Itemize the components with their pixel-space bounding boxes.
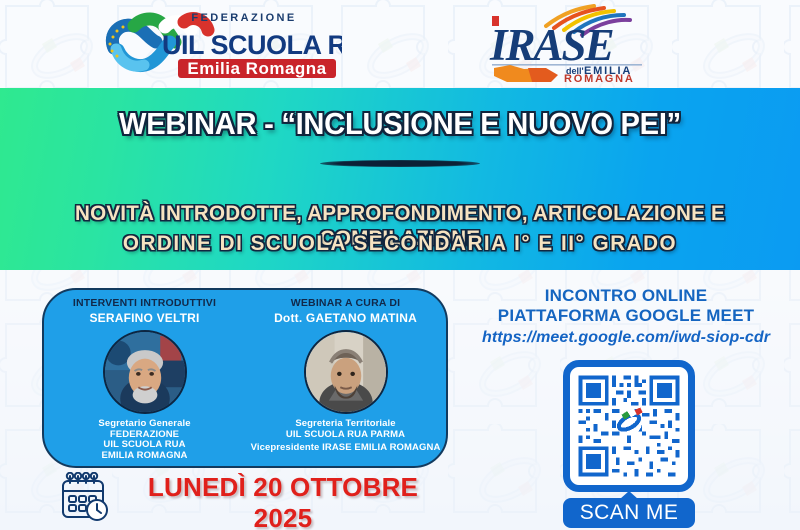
speaker-2-roles: Segreteria Territoriale UIL SCUOLA RUA P…: [245, 419, 446, 454]
page-title: WEBINAR - “INCLUSIONE E NUOVO PEI”: [24, 106, 776, 142]
uil-logo-main-text: UIL SCUOLA RUA: [162, 30, 342, 60]
speaker-1-role-2: UIL SCUOLA RUA: [103, 439, 185, 450]
speaker-2-role-0: Segreteria Territoriale: [295, 418, 395, 429]
speaker-1-role-1: FEDERAZIONE: [110, 429, 179, 440]
speaker-2-name: Dott. GAETANO MATINA: [245, 311, 446, 325]
speaker-photo-serafino-veltri: [103, 330, 187, 414]
speaker-1-kicker: INTERVENTI INTRODUTTIVI: [44, 297, 245, 309]
title-underline-flourish: [320, 160, 480, 167]
uil-logo-region-text: Emilia Romagna: [178, 59, 336, 78]
speaker-card-2: WEBINAR A CURA DI Dott. GAETANO MATINA: [245, 290, 446, 466]
speakers-panel: INTERVENTI INTRODUTTIVI SERAFINO VELTRI: [42, 288, 448, 468]
calendar-clock-icon: [58, 472, 112, 524]
speaker-photo-gaetano-matina: [304, 330, 388, 414]
speaker-2-kicker: WEBINAR A CURA DI: [245, 297, 446, 309]
poster-header: FEDERAZIONE UIL SCUOLA RUA Emilia Romagn…: [0, 0, 800, 88]
qr-code-block[interactable]: SCAN ME: [563, 360, 695, 492]
qr-code-image[interactable]: [563, 360, 695, 492]
speaker-1-role-3: EMILIA ROMAGNA: [101, 450, 187, 461]
online-line-1: INCONTRO ONLINE: [452, 286, 800, 306]
event-date: LUNEDÌ 20 OTTOBRE 2025: [118, 472, 448, 530]
speaker-1-role-0: Segretario Generale: [98, 418, 190, 429]
irase-logo-romagna-text: ROMAGNA: [564, 73, 635, 82]
online-line-2: PIATTAFORMA GOOGLE MEET: [452, 306, 800, 326]
online-info-block: INCONTRO ONLINE PIATTAFORMA GOOGLE MEET …: [452, 286, 800, 347]
meet-link[interactable]: https://meet.google.com/iwd-siop-cdr: [452, 329, 800, 347]
uil-scuola-rua-logo: FEDERAZIONE UIL SCUOLA RUA Emilia Romagn…: [92, 4, 342, 82]
speaker-2-role-2: Vicepresidente IRASE EMILIA ROMAGNA: [251, 442, 441, 453]
speaker-2-role-1: UIL SCUOLA RUA PARMA: [286, 429, 405, 440]
svg-text:Emilia Romagna: Emilia Romagna: [187, 59, 326, 78]
irase-logo-main-text: IRASE: [489, 20, 613, 70]
scan-me-label[interactable]: SCAN ME: [563, 498, 695, 528]
irase-emilia-romagna-logo: IRASE dell' EMILIA ROMAGNA: [468, 4, 668, 82]
uil-logo-federazione-text: FEDERAZIONE: [191, 12, 296, 24]
webinar-poster: FEDERAZIONE UIL SCUOLA RUA Emilia Romagn…: [0, 0, 800, 530]
subtitle-line-2: ORDINE DI SCUOLA SECONDARIA I° E II° GRA…: [16, 231, 784, 256]
speaker-1-name: SERAFINO VELTRI: [44, 311, 245, 325]
title-band: WEBINAR - “INCLUSIONE E NUOVO PEI” NOVIT…: [0, 88, 800, 270]
speaker-1-roles: Segretario Generale FEDERAZIONE UIL SCUO…: [44, 419, 245, 461]
event-date-block: LUNEDÌ 20 OTTOBRE 2025 ore 17:00: [118, 472, 448, 530]
speaker-card-1: INTERVENTI INTRODUTTIVI SERAFINO VELTRI: [44, 290, 245, 466]
